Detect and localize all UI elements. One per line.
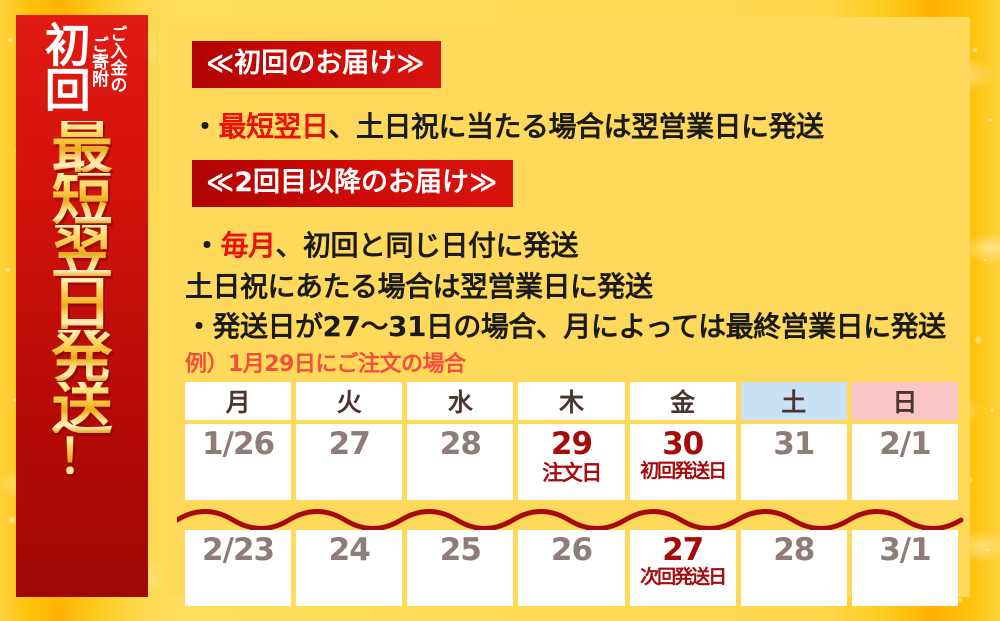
banner-headline-group: 初回 ご入金の ご寄附 [16,15,148,119]
calendar-day-cell: 28 [407,424,513,500]
calendar-day-number: 3/1 [879,534,930,567]
section2-highlight: 毎月 [221,229,276,262]
section2-bullet-line-1: ・毎月、初回と同じ日付に発送 [193,232,578,260]
example-note: 例）1月29日にご注文の場合 [185,354,465,376]
banner-headline-col1: ご入金の [107,25,124,93]
calendar-weekday-label: 日 [892,383,917,419]
info-panel: ≪初回のお届け≫ ・最短翌日、土日祝に当たる場合は翌営業日に発送 ≪2回目以降の… [163,17,970,597]
banner-char-6: ！ [58,436,106,479]
calendar-weekday-label: 水 [448,383,473,419]
calendar-week-row-2: 2/2324252627次回発送日283/1 [185,530,958,606]
calendar-day-cell: 2/23 [185,530,291,606]
calendar-day-cell: 28 [741,530,847,606]
calendar-weekday-label: 金 [670,383,695,419]
section1-highlight: 最短翌日 [219,110,329,143]
calendar-day-label: 初回発送日 [640,462,725,482]
banner-headline-main: 初回 [42,21,87,117]
calendar-weekday-木: 木 [518,382,624,420]
calendar-day-number: 31 [773,428,814,461]
calendar-day-number: 27 [329,428,370,461]
section1-rest: 、土日祝に当たる場合は翌営業日に発送 [329,110,824,143]
calendar-day-number: 28 [440,428,481,461]
calendar-weekday-label: 月 [226,383,251,419]
left-red-banner: 初回 ご入金の ご寄附 最 短 翌 日 発 送 ！ [16,15,148,597]
calendar-day-cell: 1/26 [185,424,291,500]
calendar-table: 月火水木金土日 1/26272829注文日30初回発送日312/1 2/2324… [185,382,958,606]
section2-bullet-line-2: 土日祝にあたる場合は翌営業日に発送 [185,273,653,301]
calendar-day-cell: 31 [741,424,847,500]
calendar-header-row: 月火水木金土日 [185,382,958,420]
calendar-day-cell: 26 [518,530,624,606]
calendar-day-cell: 2/1 [852,424,958,500]
promo-banner-root: 初回 ご入金の ご寄附 最 短 翌 日 発 送 ！ ≪初回のお届け≫ ・最短翌日… [0,0,1000,621]
calendar-day-cell: 25 [407,530,513,606]
section1-bullet-prefix: ・ [191,110,219,143]
section1-bullet-line: ・最短翌日、土日祝に当たる場合は翌営業日に発送 [191,113,824,141]
calendar-weekday-月: 月 [185,382,291,420]
calendar-day-number: 29 [551,428,592,461]
section2-tag-wrap: ≪2回目以降のお届け≫ [192,160,513,207]
calendar-weekday-label: 土 [781,383,806,419]
calendar-weekday-label: 火 [337,383,362,419]
banner-vertical-slogan: 最 短 翌 日 発 送 ！ [16,119,148,480]
calendar-day-number: 27 [662,534,703,567]
calendar-day-number: 30 [662,428,703,461]
calendar-day-number: 25 [440,534,481,567]
calendar-day-number: 1/26 [202,428,274,461]
banner-headline-col2: ご寄附 [89,25,106,93]
section2-bullet-prefix: ・ [193,229,221,262]
calendar-week-row-1: 1/26272829注文日30初回発送日312/1 [185,424,958,500]
calendar-day-cell: 27 [296,424,402,500]
calendar-weekday-水: 水 [407,382,513,420]
banner-char-5: 送 [51,382,112,433]
section2-tag: ≪2回目以降のお届け≫ [192,160,513,207]
calendar-weekday-日: 日 [852,382,958,420]
section1-tag: ≪初回のお届け≫ [192,41,441,88]
calendar-day-number: 24 [329,534,370,567]
section1-tag-wrap: ≪初回のお届け≫ [192,41,441,88]
calendar-day-cell: 29注文日 [518,424,624,500]
calendar-day-cell: 30初回発送日 [630,424,736,500]
calendar-day-number: 26 [551,534,592,567]
calendar-weekday-label: 木 [559,383,584,419]
section2-line1-rest: 、初回と同じ日付に発送 [276,229,579,262]
calendar-day-cell: 27次回発送日 [630,530,736,606]
calendar-weekday-土: 土 [741,382,847,420]
banner-headline-subcolumns: ご入金の ご寄附 [89,21,125,93]
calendar-day-cell: 3/1 [852,530,958,606]
calendar-day-number: 2/23 [202,534,274,567]
calendar-weekday-金: 金 [630,382,736,420]
calendar-day-number: 28 [773,534,814,567]
calendar-day-label: 注文日 [542,462,601,484]
calendar-weekday-火: 火 [296,382,402,420]
calendar-day-number: 2/1 [879,428,930,461]
section2-bullet-line-3: ・発送日が27〜31日の場合、月によっては最終営業日に発送 [185,313,946,341]
calendar-day-label: 次回発送日 [640,568,725,588]
calendar-day-cell: 24 [296,530,402,606]
